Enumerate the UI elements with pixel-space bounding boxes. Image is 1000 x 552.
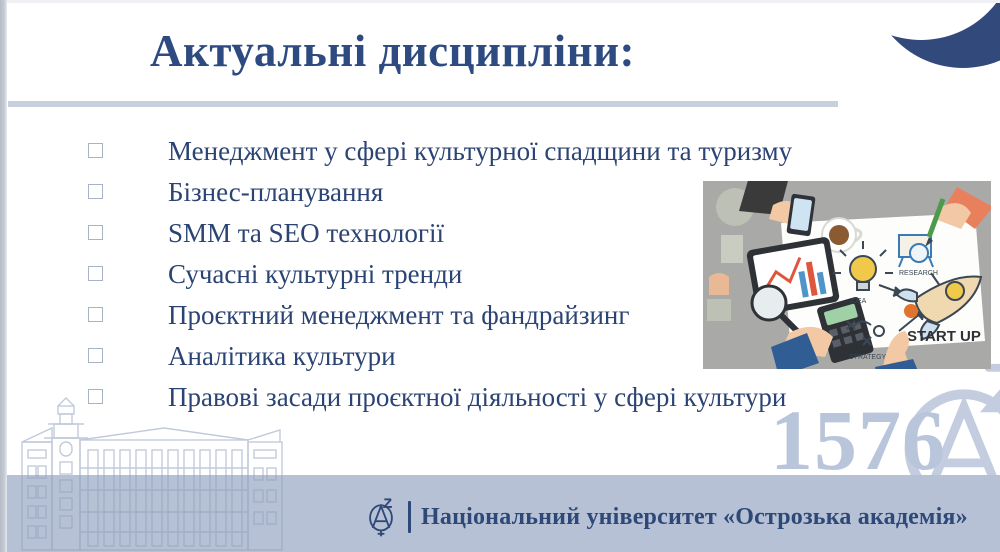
empty-square-bullet-icon	[88, 143, 103, 158]
list-item[interactable]: Правові засади проєктної діяльності у сф…	[88, 380, 792, 421]
title-divider	[8, 101, 838, 107]
empty-square-bullet-icon	[88, 389, 103, 404]
empty-square-bullet-icon	[88, 266, 103, 281]
list-item-label: Аналітика культури	[168, 339, 396, 373]
list-item[interactable]: Сучасні культурні тренди	[88, 257, 792, 298]
discipline-list: Менеджмент у сфері культурної спадщини т…	[88, 134, 792, 421]
page-title: Актуальні дисципліни:	[150, 25, 635, 77]
footer-brand-text: Національний університет «Острозька акад…	[421, 504, 968, 531]
list-item-label: SMM та SEO технології	[168, 216, 444, 250]
footer-brand: Національний університет «Острозька акад…	[364, 496, 968, 538]
list-item-label: Проєктний менеджмент та фандрайзинг	[168, 298, 629, 332]
list-item[interactable]: SMM та SEO технології	[88, 216, 792, 257]
empty-square-bullet-icon	[88, 348, 103, 363]
empty-square-bullet-icon	[88, 184, 103, 199]
list-item[interactable]: Проєктний менеджмент та фандрайзинг	[88, 298, 792, 339]
empty-square-bullet-icon	[88, 225, 103, 240]
strategy-sketch-label: STRATEGY	[849, 354, 887, 361]
top-edge-strip	[0, 0, 1000, 3]
brand-divider	[408, 501, 411, 533]
list-item-label: Менеджмент у сфері культурної спадщини т…	[168, 134, 792, 168]
left-edge-strip	[0, 0, 7, 552]
slide-canvas: 1576 Актуальні дисципліни: Менеджмент у …	[0, 0, 1000, 552]
list-item[interactable]: Менеджмент у сфері культурної спадщини т…	[88, 134, 792, 175]
empty-square-bullet-icon	[88, 307, 103, 322]
list-item-label: Правові засади проєктної діяльності у сф…	[168, 380, 786, 414]
list-item-label: Сучасні культурні тренди	[168, 257, 462, 291]
list-item[interactable]: Бізнес-планування	[88, 175, 792, 216]
list-item[interactable]: Аналітика культури	[88, 339, 792, 380]
startup-sketch-label: START UP	[907, 328, 981, 345]
list-item-label: Бізнес-планування	[168, 175, 383, 209]
idea-sketch-label: IDEA	[850, 298, 867, 305]
ostroh-academy-monogram-icon	[364, 496, 398, 538]
